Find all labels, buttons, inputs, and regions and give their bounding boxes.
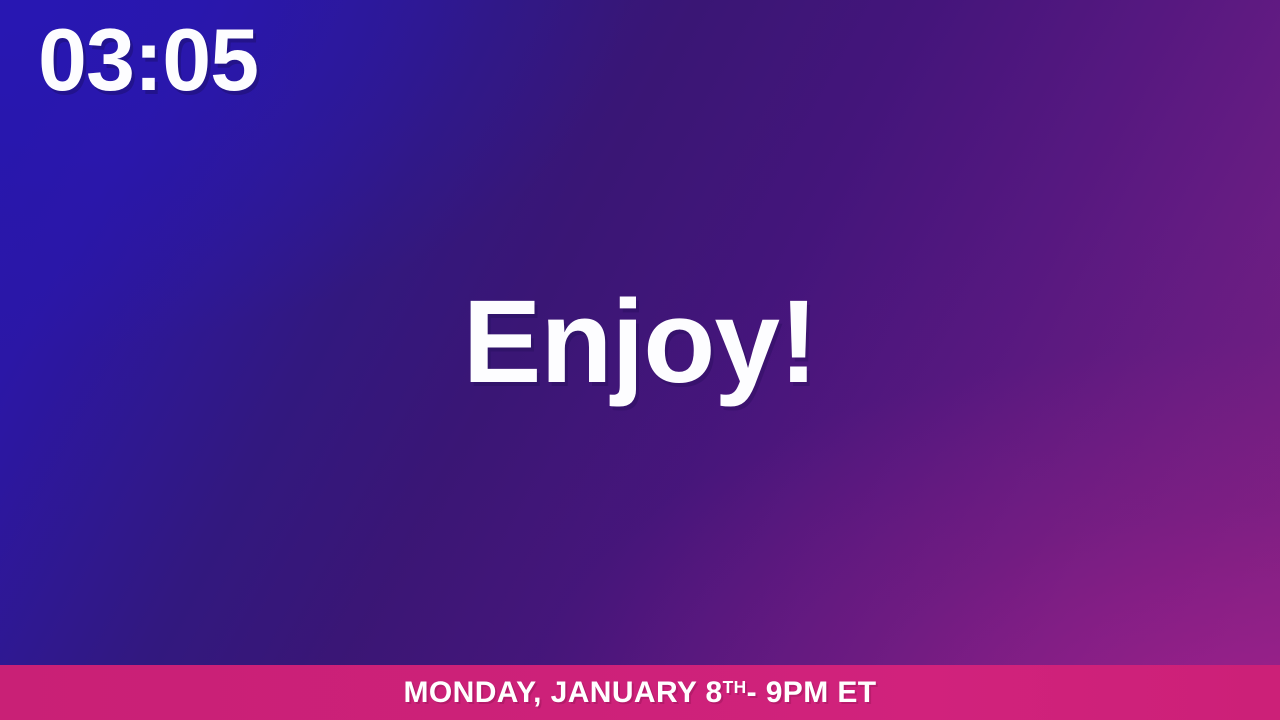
event-date-text: MONDAY, JANUARY 8TH - 9PM ET [404, 678, 877, 708]
event-date-ordinal-suffix: TH [723, 679, 747, 696]
event-date-banner: MONDAY, JANUARY 8TH - 9PM ET [0, 665, 1280, 720]
headline-container: Enjoy! [0, 0, 1280, 665]
event-date-time: - 9PM ET [747, 678, 877, 708]
countdown-slide: 03:05 Enjoy! MONDAY, JANUARY 8TH - 9PM E… [0, 0, 1280, 720]
page-title: Enjoy! [463, 283, 818, 401]
event-date-day: MONDAY, JANUARY 8 [404, 678, 723, 708]
